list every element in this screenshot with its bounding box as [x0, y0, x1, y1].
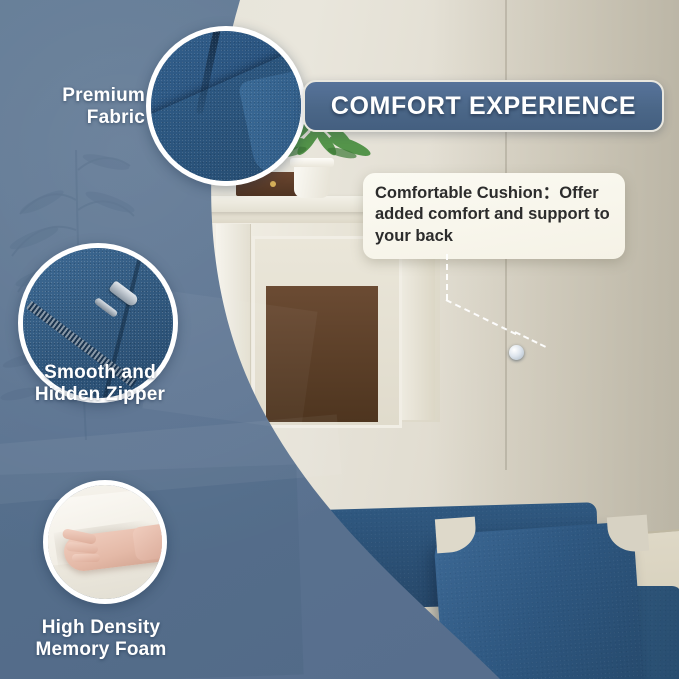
feature-label-memory-foam: High Density Memory Foam — [6, 617, 196, 662]
feature-image-memory-foam — [43, 480, 167, 604]
premium-fabric-photo — [151, 31, 301, 181]
hand-wrist — [132, 522, 167, 561]
decor-box-knob-icon — [270, 181, 276, 187]
callout-leader-line-vertical — [446, 254, 448, 300]
feature-label-hidden-zipper: Smooth and Hidden Zipper — [12, 362, 188, 407]
callout-anchor-dot-icon — [509, 345, 524, 360]
memory-foam-photo — [48, 485, 162, 599]
cushion-callout-text: Comfortable Cushion：Offer added comfort … — [375, 183, 613, 247]
fabric-weave-texture — [151, 31, 301, 181]
product-infographic: Premium Fabric Smooth and Hidden Zipper … — [0, 0, 679, 679]
title-banner: COMFORT EXPERIENCE — [303, 80, 664, 132]
feature-image-premium-fabric — [146, 26, 306, 186]
title-banner-text: COMFORT EXPERIENCE — [331, 92, 636, 121]
cushion-callout-box: Comfortable Cushion：Offer added comfort … — [363, 173, 625, 259]
hand-finger — [72, 554, 100, 562]
feature-label-premium-fabric: Premium Fabric — [10, 85, 145, 130]
